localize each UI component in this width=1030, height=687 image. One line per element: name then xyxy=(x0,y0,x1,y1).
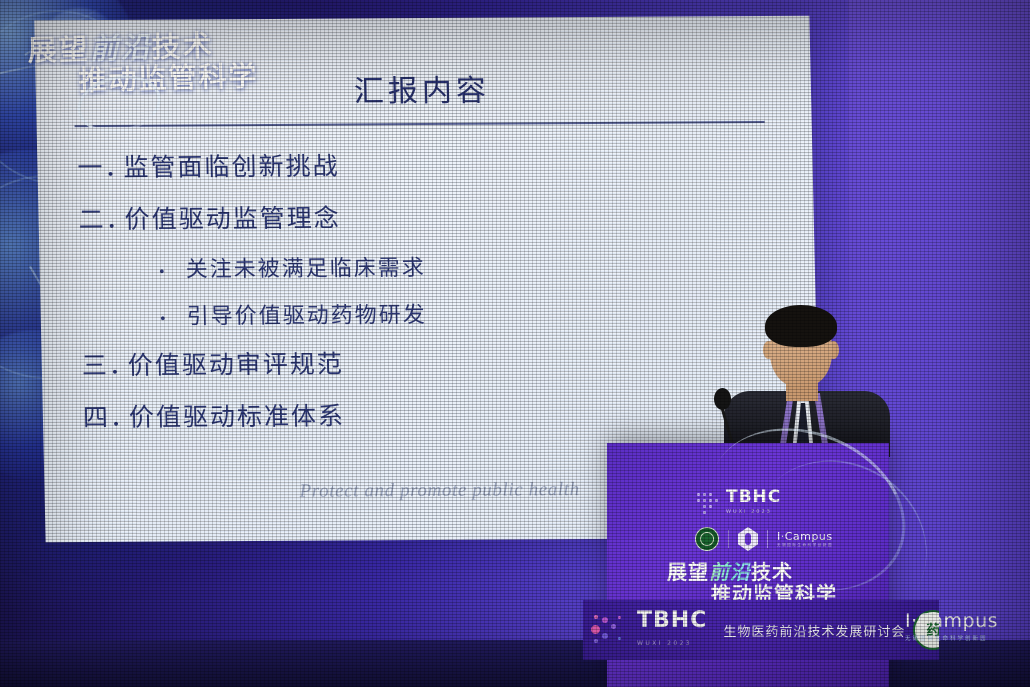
outline-number: 一． xyxy=(77,148,124,184)
outline-sub-item: • 关注未被满足临床需求 xyxy=(139,248,780,284)
corner-campus-logo: I·Campus 无锡国际生命科学创新园 xyxy=(905,612,998,642)
outline-item: 四． 价值驱动标准体系 xyxy=(83,394,784,434)
microphone-icon xyxy=(700,388,740,448)
podium-slogan-line-1: 展望前沿技术 xyxy=(667,561,887,583)
outline-item: 二． 价值驱动监管理念 xyxy=(78,196,779,236)
outline-text: 价值驱动标准体系 xyxy=(129,396,346,433)
outline-item: 三． 价值驱动审评规范 xyxy=(81,342,782,382)
outline-item: 一． 监管面临创新挑战 xyxy=(77,144,778,184)
podium-partner-logos: I·Campus 无锡国际生命科学创新园 xyxy=(695,527,833,551)
outline-text: 关注未被满足临床需求 xyxy=(185,250,426,283)
bullet-icon: • xyxy=(141,310,187,328)
dot-matrix-icon xyxy=(695,490,719,514)
banner-title: 生物医药前沿技术发展研讨会 xyxy=(723,621,905,640)
outline-number: 四． xyxy=(83,398,130,434)
slide-title: 汇报内容 xyxy=(353,66,490,111)
outline-text: 价值驱动审评规范 xyxy=(127,345,344,382)
logo-divider xyxy=(767,530,768,548)
podium-campus-subtext: 无锡国际生命科学创新园 xyxy=(777,543,833,548)
outline-text: 价值驱动监管理念 xyxy=(124,199,341,236)
outline-number: 二． xyxy=(78,200,125,236)
slide-outline-list: 一． 监管面临创新挑战 二． 价值驱动监管理念 • 关注未被满足临床需求 • 引… xyxy=(77,144,784,450)
title-divider xyxy=(75,121,765,127)
slogan-text-c: 技术 xyxy=(751,560,793,584)
banner-brand-subtext: WUXI 2023 xyxy=(637,640,692,647)
slogan-text-b: 前沿 xyxy=(709,560,751,584)
podium-campus-logo: I·Campus 无锡国际生命科学创新园 xyxy=(777,530,833,548)
outline-sub-item: • 引导价值驱动药物研发 xyxy=(140,295,781,331)
outline-text: 引导价值驱动药物研发 xyxy=(186,297,427,330)
outline-number: 三． xyxy=(81,346,128,382)
event-banner: TBHC WUXI 2023 生物医药前沿技术发展研讨会 药 WSIP xyxy=(583,600,939,660)
speaker-hair xyxy=(765,305,837,347)
podium-slogan: 展望前沿技术 推动监管科学 xyxy=(667,561,887,605)
corner-campus-subtext: 无锡国际生命科学创新园 xyxy=(905,634,998,642)
corner-campus-text: I·Campus xyxy=(905,612,998,631)
podium-brand-logo: TBHC WUXI 2023 xyxy=(695,489,781,515)
banner-brand-text: TBHC xyxy=(637,610,707,632)
university-seal-icon xyxy=(695,527,719,551)
logo-divider xyxy=(728,530,729,548)
podium-brand-subtext: WUXI 2023 xyxy=(726,509,781,515)
dot-matrix-icon xyxy=(591,613,629,647)
podium-campus-text: I·Campus xyxy=(777,530,833,543)
outline-text: 监管面临创新挑战 xyxy=(123,147,340,184)
conference-photo-stage: 汇报内容 一． 监管面临创新挑战 二． 价值驱动监管理念 • 关注未被满足临床需… xyxy=(0,0,1030,687)
institute-emblem-icon xyxy=(738,527,758,551)
slogan-text-a: 展望 xyxy=(667,560,709,584)
microphone-head xyxy=(714,388,731,410)
bullet-icon: • xyxy=(140,263,186,281)
slide-footer-tagline: Protect and promote public health xyxy=(299,479,580,503)
podium-brand-text: TBHC xyxy=(726,489,781,506)
